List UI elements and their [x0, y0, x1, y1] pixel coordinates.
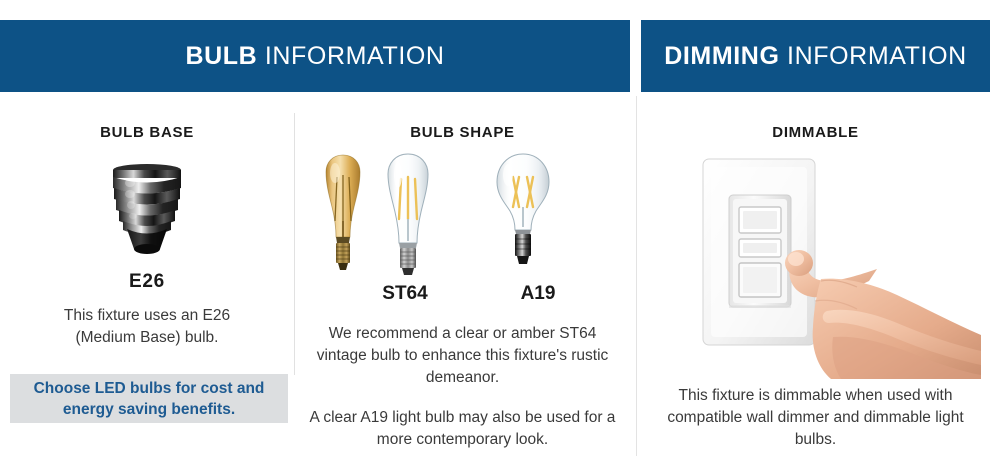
dimmable-section-title: DIMMABLE [641, 124, 990, 141]
led-callout-box: Choose LED bulbs for cost and energy sav… [10, 374, 288, 423]
st64-amber-bulb-icon [313, 151, 373, 275]
bulb-shape-labels: ST64 A19 [295, 283, 630, 309]
bulb-base-column: BULB BASE [0, 96, 294, 349]
a19-clear-bulb-icon [491, 151, 555, 269]
dimming-information-header: DIMMING INFORMATION [641, 20, 990, 92]
bulb-information-header: BULB INFORMATION [0, 20, 630, 92]
dimming-information-title-bold: DIMMING [664, 42, 779, 70]
dimming-information-title: DIMMING INFORMATION [664, 42, 967, 71]
bulb-shape-section-title: BULB SHAPE [295, 124, 630, 141]
bulb-shape-column: BULB SHAPE [295, 96, 630, 451]
wall-dimmer-switch-icon [681, 151, 981, 379]
dimmable-column: DIMMABLE [641, 96, 990, 451]
bulb-shape-paragraph-2: A clear A19 light bulb may also be used … [295, 407, 630, 451]
dimmable-description: This fixture is dimmable when used with … [641, 385, 990, 451]
bulb-information-infographic: BULB INFORMATION DIMMING INFORMATION BUL… [0, 0, 990, 460]
bulb-information-title: BULB INFORMATION [185, 42, 444, 71]
bulb-shape-paragraph-1: We recommend a clear or amber ST64 vinta… [295, 323, 630, 389]
bulb-shape-label-st64: ST64 [355, 283, 455, 305]
bulb-information-title-rest: INFORMATION [257, 42, 444, 70]
e26-base-illustration [0, 155, 294, 265]
bulb-base-description: This fixture uses an E26 (Medium Base) b… [0, 305, 294, 349]
bulb-base-code: E26 [0, 271, 294, 293]
bulb-shape-label-a19: A19 [493, 283, 583, 305]
bulb-information-title-bold: BULB [185, 42, 257, 70]
led-callout-text: Choose LED bulbs for cost and energy sav… [10, 378, 288, 420]
dimmer-illustration [641, 151, 990, 379]
st64-clear-bulb-icon [375, 151, 441, 277]
bulb-base-section-title: BULB BASE [0, 124, 294, 141]
dimming-information-title-rest: INFORMATION [780, 42, 967, 70]
e26-screw-base-icon [104, 159, 190, 259]
bulb-shape-illustrations [295, 151, 630, 279]
panel-divider [636, 96, 637, 456]
